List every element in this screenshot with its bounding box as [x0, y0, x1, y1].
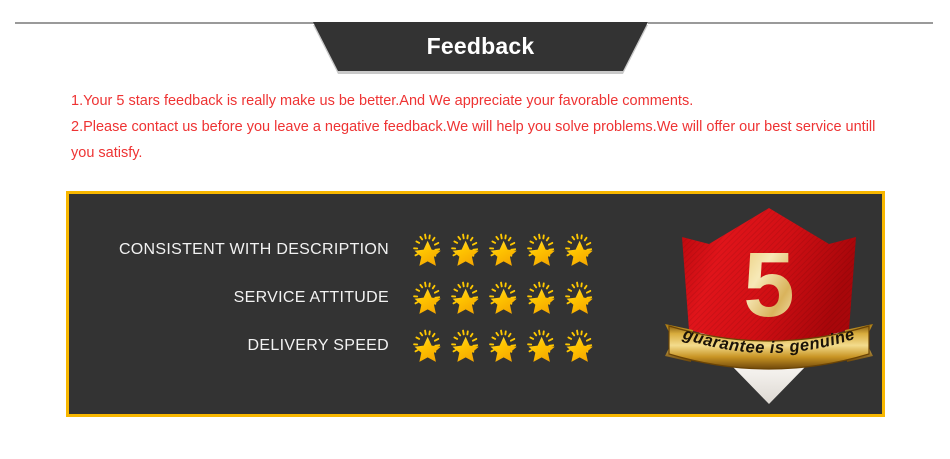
- star-rating-consistent-with-description: [411, 233, 597, 267]
- sparkle-star-icon: [525, 329, 559, 363]
- rating-row: DELIVERY SPEED: [91, 322, 651, 370]
- sparkle-star-icon: [487, 233, 521, 267]
- sparkle-star-icon: [487, 329, 521, 363]
- sparkle-star-icon: [411, 329, 445, 363]
- ratings-list: CONSISTENT WITH DESCRIPTION: [91, 226, 651, 370]
- star-rating-service-attitude: [411, 281, 597, 315]
- sparkle-star-icon: [525, 281, 559, 315]
- header-rule-left: [15, 22, 315, 24]
- rating-label-delivery-speed: DELIVERY SPEED: [91, 337, 411, 355]
- sparkle-star-icon: [563, 233, 597, 267]
- sparkle-star-icon: [449, 233, 483, 267]
- page-title: Feedback: [308, 22, 653, 71]
- sparkle-star-icon: [525, 233, 559, 267]
- guarantee-badge: 5 guarantee is genuine: [659, 198, 879, 412]
- sparkle-star-icon: [449, 329, 483, 363]
- sparkle-star-icon: [563, 281, 597, 315]
- rating-label-consistent-with-description: CONSISTENT WITH DESCRIPTION: [91, 241, 411, 259]
- rating-row: SERVICE ATTITUDE: [91, 274, 651, 322]
- policy-line-2: 2.Please contact us before you leave a n…: [71, 114, 891, 166]
- sparkle-star-icon: [411, 233, 445, 267]
- feedback-banner: Feedback: [308, 22, 653, 71]
- sparkle-star-icon: [411, 281, 445, 315]
- header-rule-right: [648, 22, 933, 24]
- feedback-page: Feedback 1.Your 5 stars feedback is real…: [0, 0, 950, 459]
- header-banner-area: Feedback: [0, 0, 950, 80]
- rating-row: CONSISTENT WITH DESCRIPTION: [91, 226, 651, 274]
- sparkle-star-icon: [563, 329, 597, 363]
- badge-number: 5: [743, 234, 794, 336]
- feedback-policy-text: 1.Your 5 stars feedback is really make u…: [71, 88, 891, 166]
- policy-line-1: 1.Your 5 stars feedback is really make u…: [71, 88, 891, 114]
- sparkle-star-icon: [487, 281, 521, 315]
- ratings-panel: CONSISTENT WITH DESCRIPTION: [66, 191, 885, 417]
- star-rating-delivery-speed: [411, 329, 597, 363]
- rating-label-service-attitude: SERVICE ATTITUDE: [91, 289, 411, 307]
- sparkle-star-icon: [449, 281, 483, 315]
- shield-badge-icon: 5 guarantee is genuine: [659, 198, 879, 412]
